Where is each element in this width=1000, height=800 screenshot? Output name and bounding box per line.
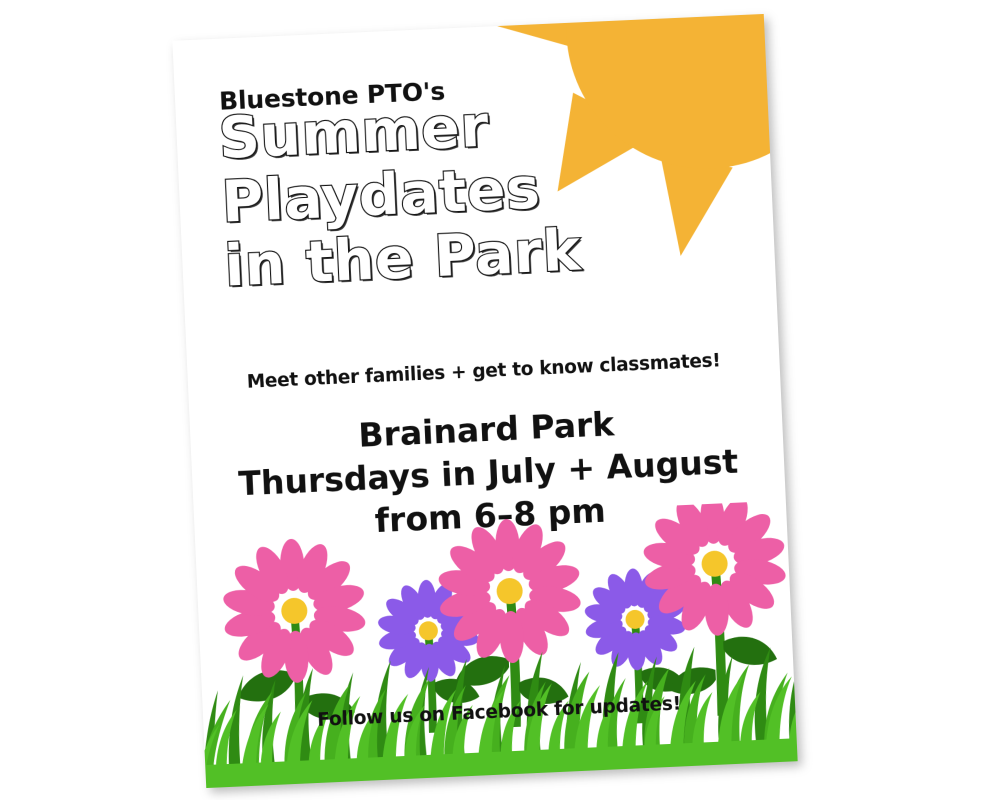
flyer-headline: Summer Playdates in the Park [217, 87, 665, 299]
purple-daisy-icon [581, 566, 689, 673]
purple-daisy-icon [374, 578, 482, 685]
flyer-tagline: Meet other families + get to know classm… [187, 348, 779, 396]
flyer-footer: Follow us on Facebook for updates! [203, 688, 795, 736]
pink-daisy-icon [218, 536, 370, 686]
screenshot-canvas: Bluestone PTO's Summer Playdates in the … [0, 0, 1000, 800]
flyer-sheet: Bluestone PTO's Summer Playdates in the … [172, 14, 797, 788]
flyer-content: Bluestone PTO's Summer Playdates in the … [172, 14, 797, 788]
flyer-details: Brainard Park Thursdays in July + August… [190, 396, 787, 551]
